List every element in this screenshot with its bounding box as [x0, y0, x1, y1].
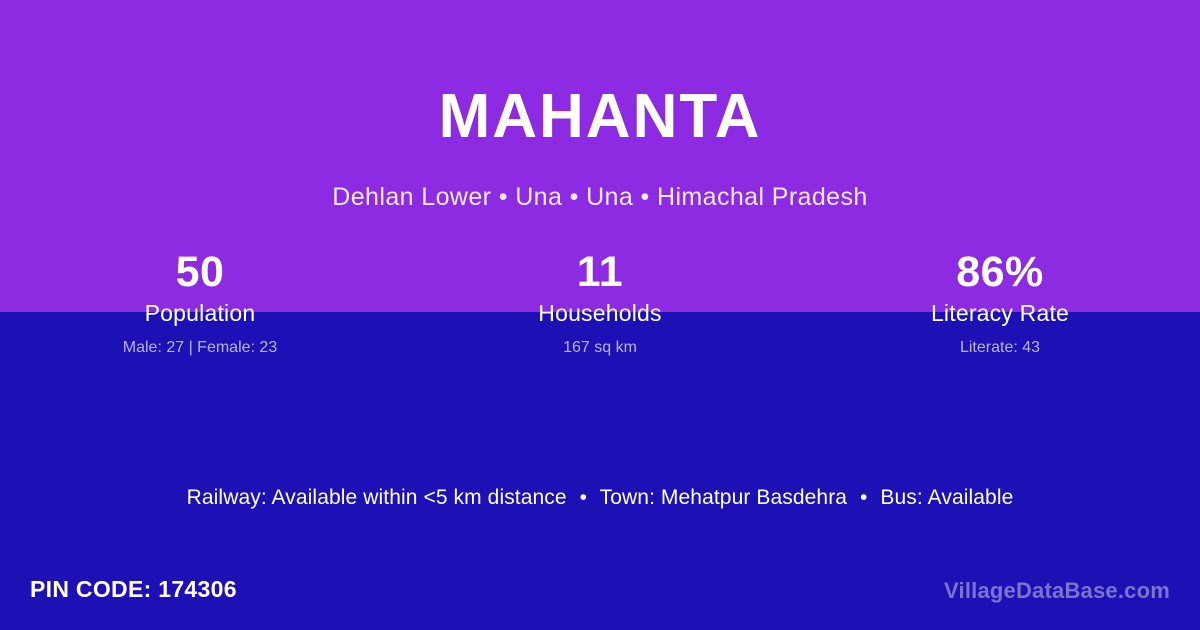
stats-row: 50 Population Male: 27 | Female: 23 11 H…: [0, 248, 1200, 360]
stat-households: 11 Households 167 sq km: [400, 248, 800, 360]
stat-label: Population: [0, 296, 400, 331]
stat-value: 50: [0, 248, 400, 296]
facility-railway: Railway: Available within <5 km distance: [187, 486, 567, 509]
facilities-line: Railway: Available within <5 km distance…: [0, 486, 1200, 510]
facility-town: Town: Mehatpur Basdehra: [600, 486, 847, 509]
stat-sublabel: Literate: 43: [800, 331, 1200, 361]
stat-value: 86%: [800, 248, 1200, 296]
brand-watermark: VillageDataBase.com: [944, 578, 1170, 604]
stat-literacy-rate: 86% Literacy Rate Literate: 43: [800, 248, 1200, 360]
village-info-card: MAHANTA Dehlan Lower • Una • Una • Himac…: [0, 0, 1200, 630]
stat-population: 50 Population Male: 27 | Female: 23: [0, 248, 400, 360]
facility-separator: •: [573, 486, 594, 509]
facility-bus: Bus: Available: [880, 486, 1013, 509]
page-title: MAHANTA: [0, 86, 1200, 148]
pin-code: PIN CODE: 174306: [30, 576, 237, 603]
stat-label: Households: [400, 296, 800, 331]
stat-sublabel: Male: 27 | Female: 23: [0, 331, 400, 361]
stat-sublabel: 167 sq km: [400, 331, 800, 361]
stat-label: Literacy Rate: [800, 296, 1200, 331]
facility-separator: •: [853, 486, 874, 509]
breadcrumb: Dehlan Lower • Una • Una • Himachal Prad…: [0, 183, 1200, 212]
stat-value: 11: [400, 248, 800, 296]
